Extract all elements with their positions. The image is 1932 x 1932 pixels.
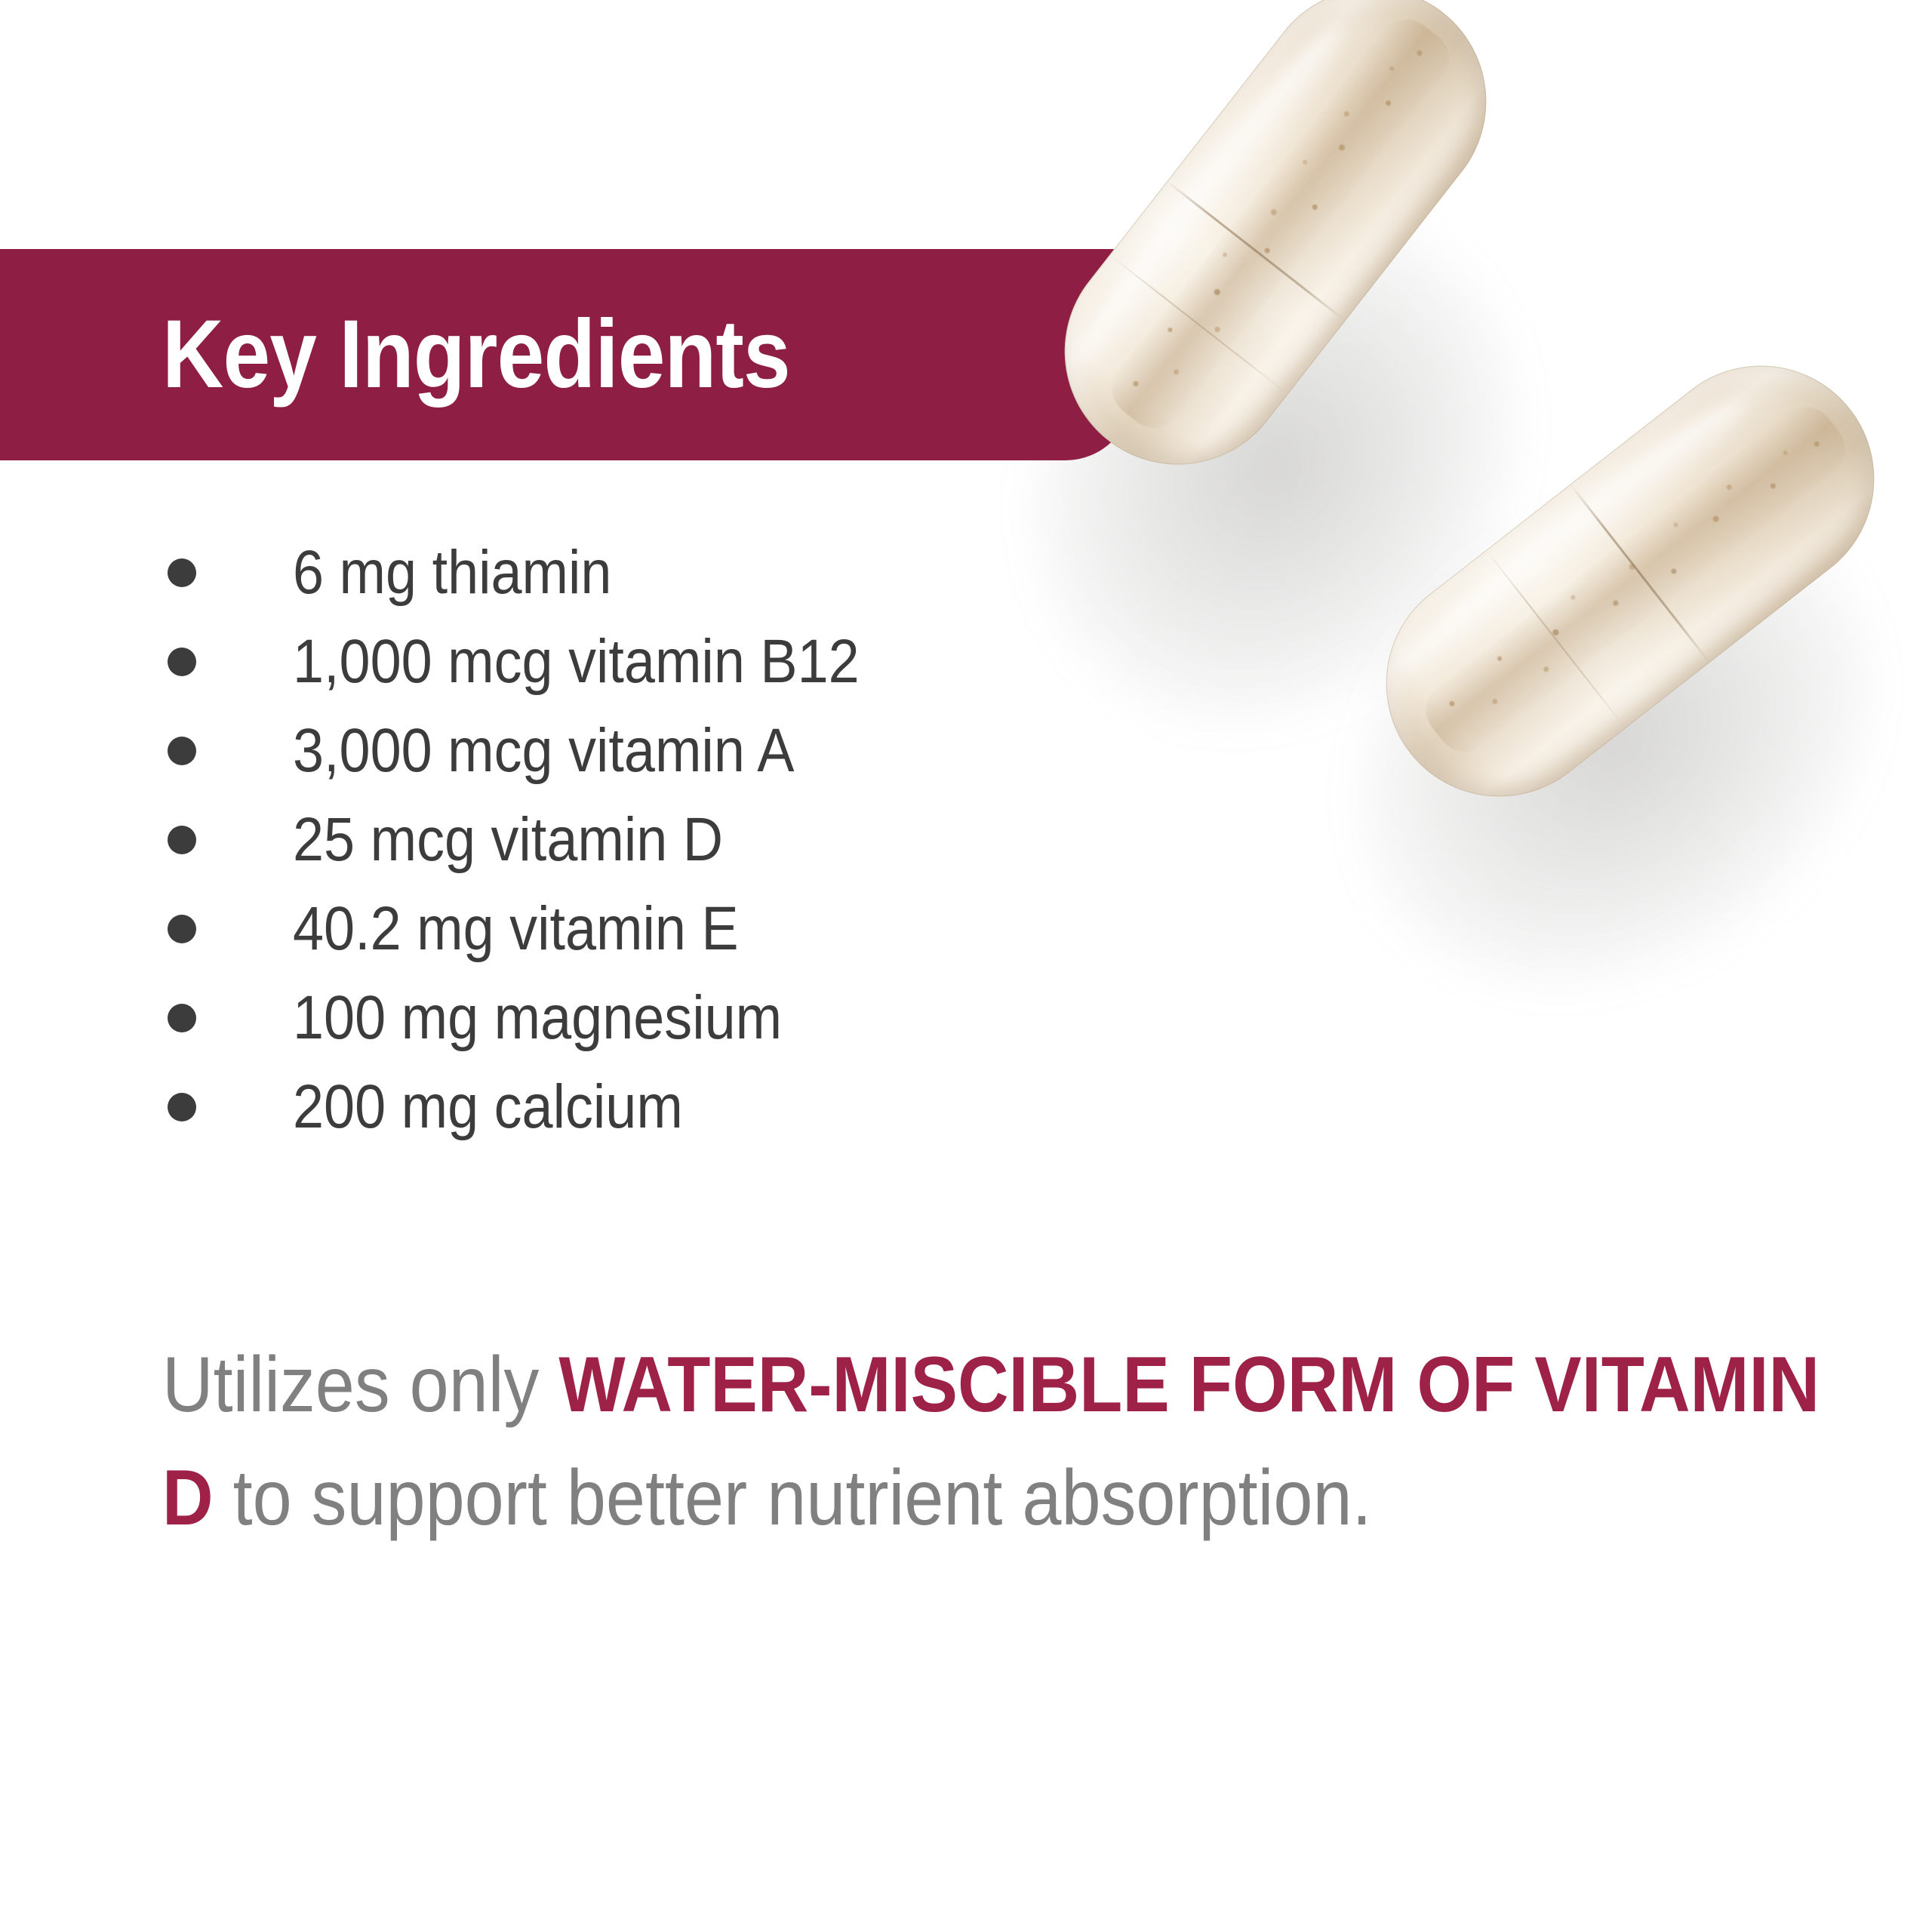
list-item: 100 mg magnesium: [0, 974, 1057, 1063]
list-item: 6 mg thiamin: [0, 528, 1057, 617]
bullet-dot-icon: [168, 558, 196, 587]
banner-title-wrap: Key Ingredients: [162, 306, 875, 403]
list-item: 3,000 mcg vitamin A: [0, 706, 1057, 795]
list-item: 1,000 mcg vitamin B12: [0, 617, 1057, 706]
tagline: Utilizes only WATER-MISCIBLE FORM OF VIT…: [162, 1328, 1838, 1555]
tagline-text: Utilizes only WATER-MISCIBLE FORM OF VIT…: [162, 1328, 1836, 1555]
bullet-dot-icon: [168, 648, 196, 676]
tagline-tail: to support better nutrient absorption.: [214, 1454, 1372, 1542]
ingredient-label: 6 mg thiamin: [293, 542, 611, 604]
key-ingredients-list: 6 mg thiamin1,000 mcg vitamin B123,000 m…: [0, 528, 1057, 1152]
list-item: 200 mg calcium: [0, 1063, 1057, 1152]
ingredient-label: 1,000 mcg vitamin B12: [293, 631, 860, 693]
ingredient-label: 200 mg calcium: [293, 1076, 683, 1138]
ingredient-label: 40.2 mg vitamin E: [293, 898, 739, 960]
key-ingredients-banner: Key Ingredients: [0, 249, 1132, 460]
list-item: 25 mcg vitamin D: [0, 795, 1057, 884]
page-title: Key Ingredients: [162, 306, 790, 403]
infographic-canvas: Key Ingredients 6 mg thiamin1,000 mcg vi…: [0, 0, 1932, 1932]
bullet-dot-icon: [168, 737, 196, 765]
ingredient-label: 25 mcg vitamin D: [293, 809, 723, 871]
list-item: 40.2 mg vitamin E: [0, 884, 1057, 974]
ingredient-label: 100 mg magnesium: [293, 987, 782, 1049]
bullet-dot-icon: [168, 1093, 196, 1121]
bullet-dot-icon: [168, 915, 196, 943]
ingredient-label: 3,000 mcg vitamin A: [293, 720, 795, 782]
tagline-lead: Utilizes only: [162, 1341, 558, 1429]
bullet-dot-icon: [168, 1004, 196, 1032]
bullet-dot-icon: [168, 826, 196, 854]
